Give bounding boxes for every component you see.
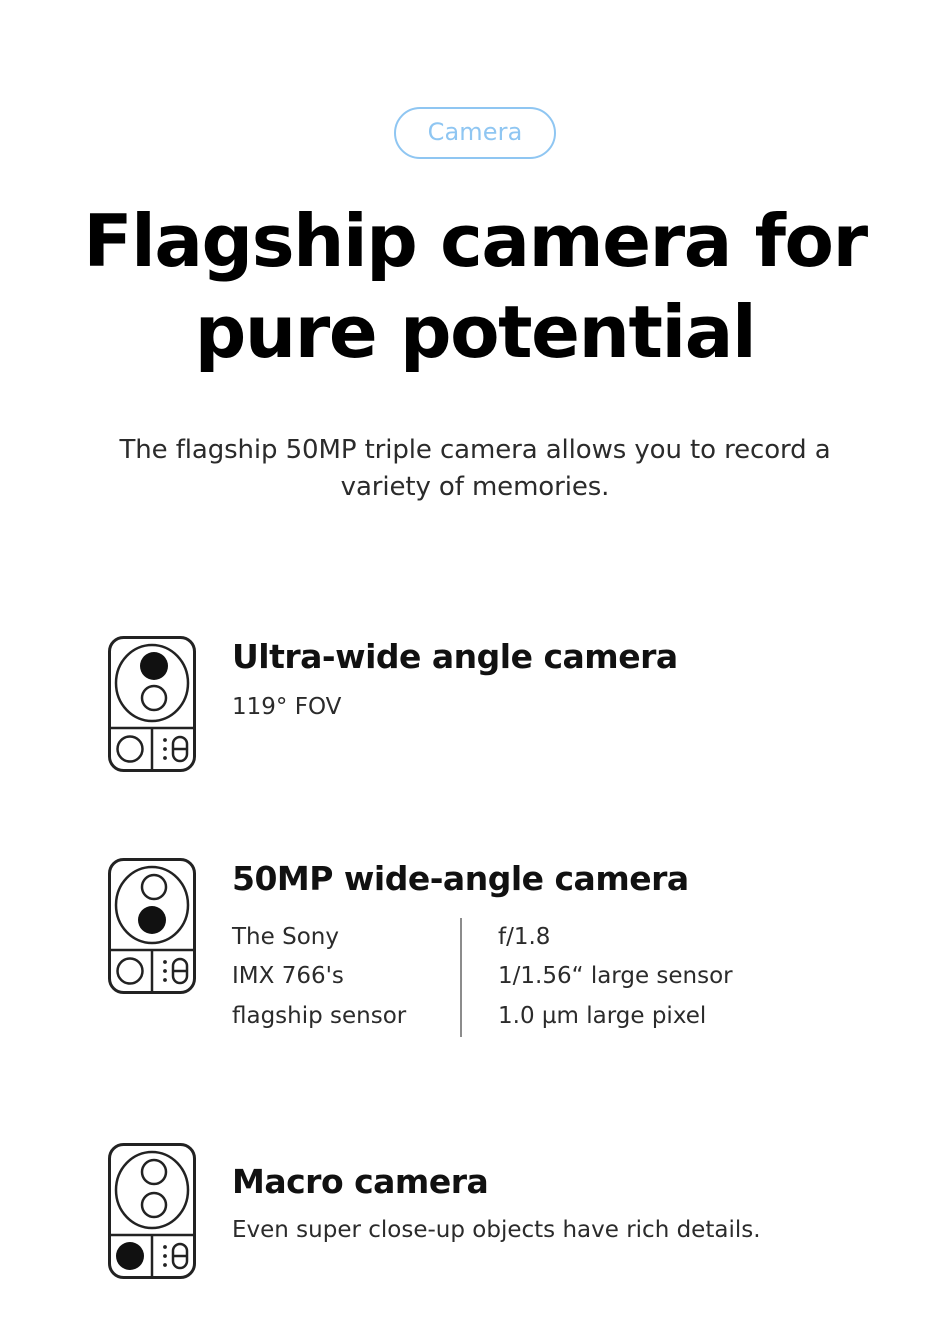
icon-wrap <box>108 1143 196 1279</box>
spec-column-left: The Sony IMX 766's flagship sensor <box>232 918 460 1037</box>
spec-columns: The Sony IMX 766's flagship sensor f/1.8… <box>232 918 733 1037</box>
badge-row: Camera <box>0 107 950 159</box>
spec-line: The Sony <box>232 918 460 958</box>
page-subtitle: The flagship 50MP triple camera allows y… <box>75 432 875 506</box>
camera-module-wide-icon <box>108 858 196 994</box>
spec-line: 1/1.56“ large sensor <box>498 957 733 997</box>
spec-column-right: f/1.8 1/1.56“ large sensor 1.0 µm large … <box>462 918 733 1037</box>
spec-line: IMX 766's <box>232 957 460 997</box>
spec-line: flagship sensor <box>232 997 460 1037</box>
feature-macro: Macro camera Even super close-up objects… <box>108 1143 761 1279</box>
section-badge-camera: Camera <box>394 107 557 159</box>
feature-text: 50MP wide-angle camera The Sony IMX 766'… <box>232 858 733 1037</box>
feature-text: Ultra-wide angle camera 119° FOV <box>232 636 678 723</box>
icon-wrap <box>108 858 196 994</box>
feature-subtitle: 119° FOV <box>232 692 678 723</box>
feature-title: 50MP wide-angle camera <box>232 860 733 898</box>
camera-module-ultrawide-icon <box>108 636 196 772</box>
camera-module-macro-icon <box>108 1143 196 1279</box>
feature-title: Macro camera <box>232 1163 761 1201</box>
page-title: Flagship camera for pure potential <box>60 196 890 377</box>
camera-feature-page: Camera Flagship camera for pure potentia… <box>0 0 950 1332</box>
spec-line: f/1.8 <box>498 918 733 958</box>
feature-title: Ultra-wide angle camera <box>232 638 678 676</box>
feature-ultra-wide: Ultra-wide angle camera 119° FOV <box>108 636 678 772</box>
feature-wide-angle: 50MP wide-angle camera The Sony IMX 766'… <box>108 858 733 1037</box>
feature-subtitle: Even super close-up objects have rich de… <box>232 1215 761 1246</box>
spec-line: 1.0 µm large pixel <box>498 997 733 1037</box>
feature-text: Macro camera Even super close-up objects… <box>232 1143 761 1246</box>
icon-wrap <box>108 636 196 772</box>
